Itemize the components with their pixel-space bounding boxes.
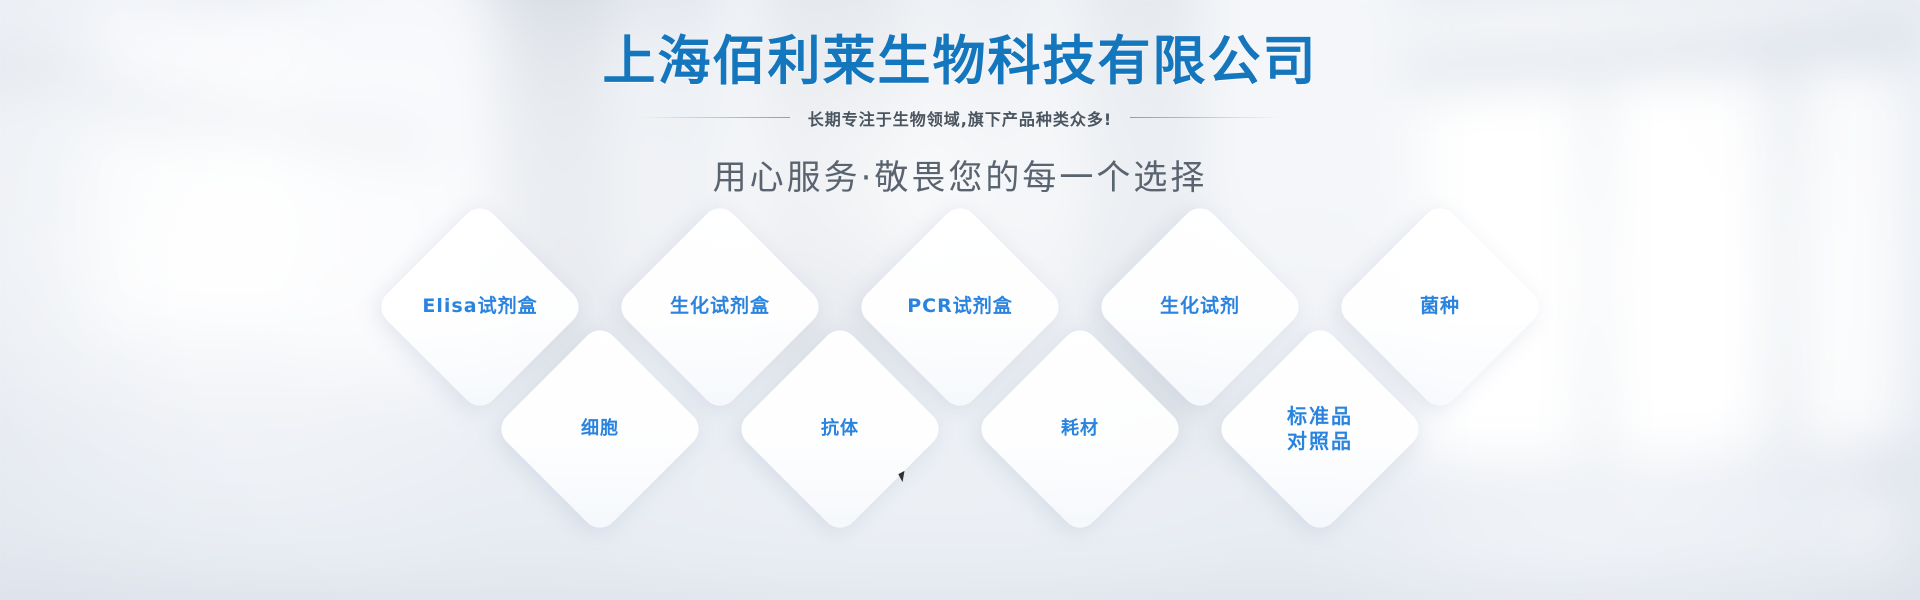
category-label: 生化试剂	[1160, 295, 1240, 319]
category-label: PCR试剂盒	[907, 295, 1013, 319]
banner-header: 上海佰利莱生物科技有限公司 长期专注于生物领域,旗下产品种类众多! 用心服务·敬…	[0, 34, 1920, 199]
category-label: 抗体	[821, 418, 859, 441]
category-label: 菌种	[1420, 295, 1460, 319]
subtitle-row: 长期专注于生物领域,旗下产品种类众多!	[0, 106, 1920, 130]
category-label: 细胞	[581, 418, 619, 441]
category-label: 耗材	[1061, 418, 1099, 441]
category-label: Elisa试剂盒	[422, 295, 537, 319]
divider-line-right	[1130, 117, 1280, 118]
page-title: 上海佰利莱生物科技有限公司	[0, 34, 1920, 90]
category-label: 生化试剂盒	[670, 295, 770, 319]
mouse-cursor-icon	[898, 471, 908, 482]
hero-banner: 上海佰利莱生物科技有限公司 长期专注于生物领域,旗下产品种类众多! 用心服务·敬…	[0, 0, 1920, 600]
divider-line-left	[640, 117, 790, 118]
tagline-text: 用心服务·敬畏您的每一个选择	[0, 150, 1920, 199]
category-label: 标准品对照品	[1255, 404, 1385, 454]
subtitle-text: 长期专注于生物领域,旗下产品种类众多!	[808, 106, 1112, 130]
category-diamond-grid: Elisa试剂盒 生化试剂盒 PCR试剂盒 生化试剂 菌种 细胞 抗体	[0, 232, 1920, 600]
